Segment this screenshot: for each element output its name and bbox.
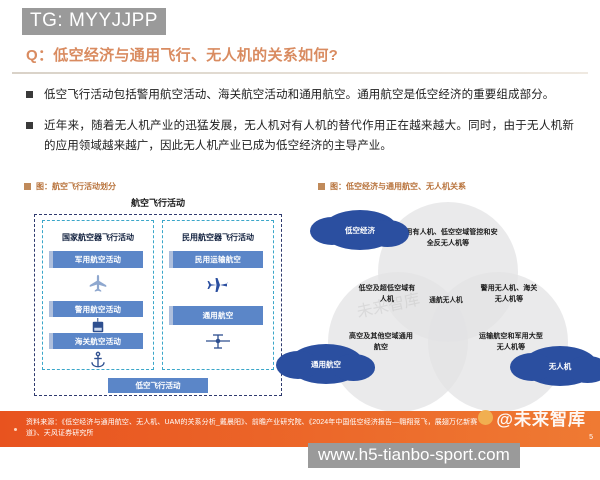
civil-aircraft-heading: 民用航空器飞行活动 <box>162 232 274 243</box>
cloud-general-label: 通用航空 <box>311 359 341 370</box>
figure-left-caption: 图：航空飞行活动划分 <box>24 181 116 192</box>
footer-dot-icon <box>14 428 17 431</box>
slide-canvas: TG: MYYJJPP Q：低空经济与通用飞行、无人机的关系如何? 低空飞行活动… <box>0 0 600 480</box>
figure-right-caption-text: 图：低空经济与通用航空、无人机关系 <box>330 181 466 192</box>
paw-icon <box>478 410 493 425</box>
bullet-text: 低空飞行活动包括警用航空活动、海关航空活动和通用航空。通用航空是低空经济的重要组… <box>44 86 554 106</box>
propeller-plane-icon <box>203 329 233 355</box>
url-overlay: www.h5-tianbo-sport.com <box>308 443 520 468</box>
cloud-general-aviation: 通用航空 <box>288 344 364 384</box>
venn-region-lower-left: 高空及其他空域通用航空 <box>346 332 416 354</box>
bullet-item: 近年来，随着无人机产业的迅猛发展，无人机对有人机的替代作用正在越来越大。同时，由… <box>26 117 574 157</box>
figure-right-caption: 图：低空经济与通用航空、无人机关系 <box>318 181 466 192</box>
box-civil-transport-aviation: 民用运输航空 <box>173 251 263 268</box>
telegram-tag-overlay: TG: MYYJJPP <box>22 8 166 35</box>
source-note-text: 资料来源：《低空经济与通用航空、无人机、UAM的关系分析_戴晨阳》、前瞻产业研究… <box>26 418 494 440</box>
venn-region-upper-right: 警用无人机、海关无人机等 <box>478 284 540 306</box>
figure-left-title: 航空飞行活动 <box>22 196 294 209</box>
venn-region-upper-left: 低空及超低空域有人机 <box>356 284 418 306</box>
page-number: 5 <box>589 434 593 441</box>
jet-icon <box>203 272 233 298</box>
figure-left-diagram: 航空飞行活动 国家航空器飞行活动 民用航空器飞行活动 军用航空活动 警用航空活动… <box>22 196 294 401</box>
cloud-drone-label: 无人机 <box>549 361 572 372</box>
airplane-icon <box>83 272 113 296</box>
source-footer: 资料来源：《低空经济与通用航空、无人机、UAM的关系分析_戴晨阳》、前瞻产业研究… <box>0 411 600 447</box>
bullet-square-icon <box>26 91 33 98</box>
bullet-square-icon <box>26 122 33 129</box>
figure-left-caption-text: 图：航空飞行活动划分 <box>36 181 116 192</box>
caption-square-icon <box>318 183 325 190</box>
title-divider <box>12 72 588 74</box>
state-aircraft-heading: 国家航空器飞行活动 <box>42 232 154 243</box>
cloud-economy-label: 低空经济 <box>345 225 375 236</box>
bullet-item: 低空飞行活动包括警用航空活动、海关航空活动和通用航空。通用航空是低空经济的重要组… <box>26 86 574 106</box>
cloud-drone: 无人机 <box>522 346 598 386</box>
bullet-list: 低空飞行活动包括警用航空活动、海关航空活动和通用航空。通用航空是低空经济的重要组… <box>26 86 574 167</box>
caption-square-icon <box>24 183 31 190</box>
cloud-low-altitude-economy: 低空经济 <box>322 210 398 250</box>
box-customs-aviation: 海关航空活动 <box>53 333 143 349</box>
bullet-text: 近年来，随着无人机产业的迅猛发展，无人机对有人机的替代作用正在越来越大。同时，由… <box>44 117 574 157</box>
box-general-aviation: 通用航空 <box>173 306 263 325</box>
page-title: Q：低空经济与通用飞行、无人机的关系如何? <box>0 44 600 65</box>
page-title-text: Q：低空经济与通用飞行、无人机的关系如何? <box>26 44 600 65</box>
radio-icon <box>83 319 113 332</box>
box-police-aviation: 警用航空活动 <box>53 301 143 317</box>
box-military-aviation: 军用航空活动 <box>53 251 143 268</box>
venn-region-middle: 通航无人机 <box>420 296 472 306</box>
venn-region-top: 警用有人机、低空空域管控和安全反无人机等 <box>398 228 498 250</box>
brand-watermark-text: @未来智库 <box>496 405 586 430</box>
anchor-icon <box>83 351 113 369</box>
low-altitude-flight-label: 低空飞行活动 <box>108 378 208 393</box>
figure-right-venn: 未来智库 警用有人机、低空空域管控和安全反无人机等 低空及超低空域有人机 警用无… <box>300 196 596 401</box>
brand-watermark: @未来智库 <box>478 405 586 430</box>
